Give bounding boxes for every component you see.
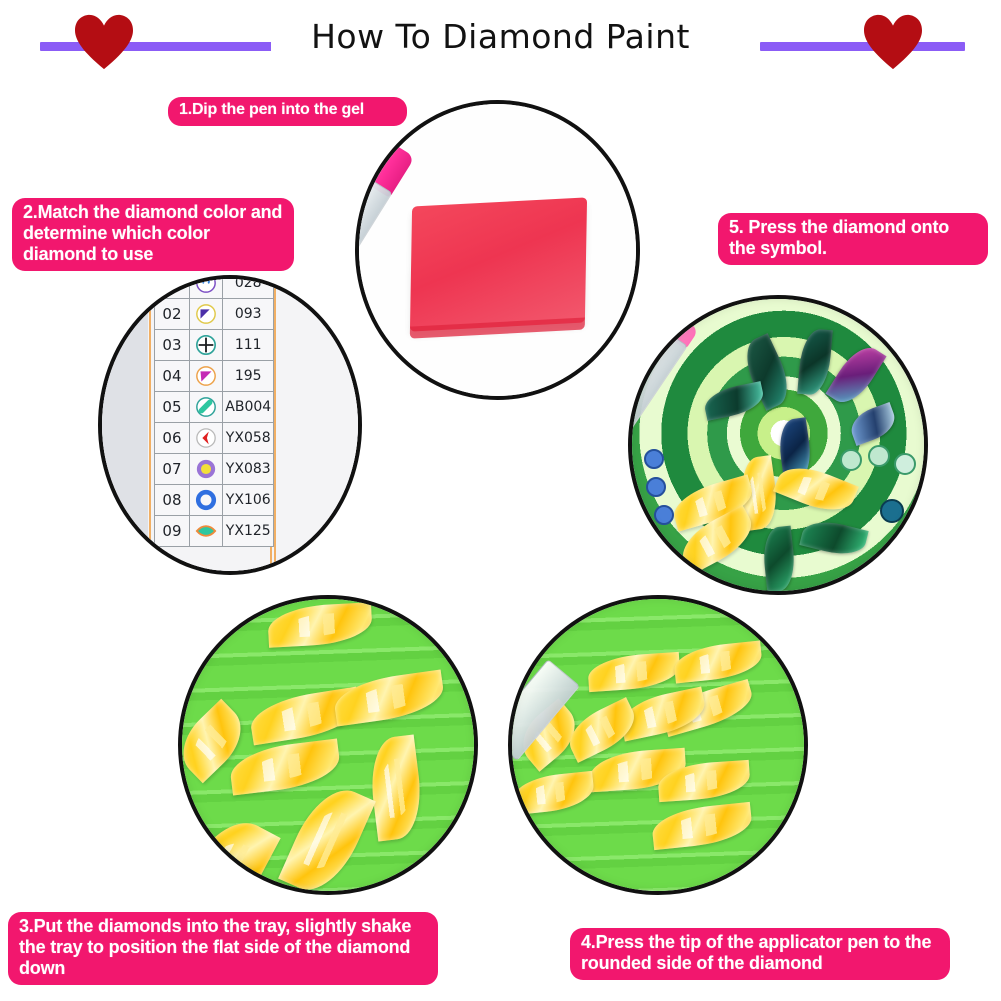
photo-pen-picking-diamond [508,595,808,895]
cell-number: 04 [155,361,190,392]
step-3-label: 3.Put the diamonds into the tray, slight… [8,912,438,985]
table-row: 04 195 [155,361,274,392]
cell-code: YX125 [223,516,274,547]
infographic-canvas: How To Diamond Paint 02 [0,0,1001,1001]
photo-symbol-chart: 028 02 093 03 111 04 [98,275,362,575]
cell-number: 02 [155,299,190,330]
triangle-magenta-orange-circle-icon [189,361,223,392]
slash-green-teal-circle-icon [189,392,223,423]
cell-number: 06 [155,423,190,454]
gel-pad [410,197,587,331]
heart-icon [73,13,135,71]
plus-teal-circle-icon [189,330,223,361]
arrow-left-red-circle-icon [189,423,223,454]
photo-diamonds-in-tray [178,595,478,895]
cell-number: 07 [155,454,190,485]
table-row: 02 093 [155,299,274,330]
cell-number: 03 [155,330,190,361]
cell-code: 028 [223,275,274,299]
filled-yellow-purple-ring-icon [189,454,223,485]
step-5-label: 5. Press the diamond onto the symbol. [718,213,988,265]
tray-gems [512,599,804,891]
cell-number: 09 [155,516,190,547]
cell-code: YX106 [223,485,274,516]
tray-gems [182,599,474,891]
triangle-indigo-yellow-circle-icon [189,299,223,330]
cell-number: 08 [155,485,190,516]
table-row: 07 YX083 [155,454,274,485]
cell-code: AB004 [223,392,274,423]
step-4-label: 4.Press the tip of the applicator pen to… [570,928,950,980]
step-1-label: 1.Dip the pen into the gel [168,97,407,126]
blue-ring-icon [189,485,223,516]
table-row: 05 AB004 [155,392,274,423]
table-row: 028 [155,275,274,299]
cell-code: YX083 [223,454,274,485]
cell-code: 111 [223,330,274,361]
heart-icon [862,13,924,71]
cell-code: 093 [223,299,274,330]
teal-leaf-orange-outline-icon [189,516,223,547]
step-2-label: 2.Match the diamond color and determine … [12,198,294,271]
table-row: 06 YX058 [155,423,274,454]
cell-code: YX058 [223,423,274,454]
cell-code: 195 [223,361,274,392]
table-row: 03 111 [155,330,274,361]
table-row: 08 YX106 [155,485,274,516]
symbol-chart-table: 028 02 093 03 111 04 [154,275,274,547]
cell-number [155,275,190,299]
double-droplet-purple-circle-icon [189,275,223,299]
photo-pressing-diamond-onto-canvas [628,295,928,595]
page-title: How To Diamond Paint [271,17,731,56]
cell-number: 05 [155,392,190,423]
photo-pen-dipping-in-gel [355,100,640,400]
table-row: 09 YX125 [155,516,274,547]
